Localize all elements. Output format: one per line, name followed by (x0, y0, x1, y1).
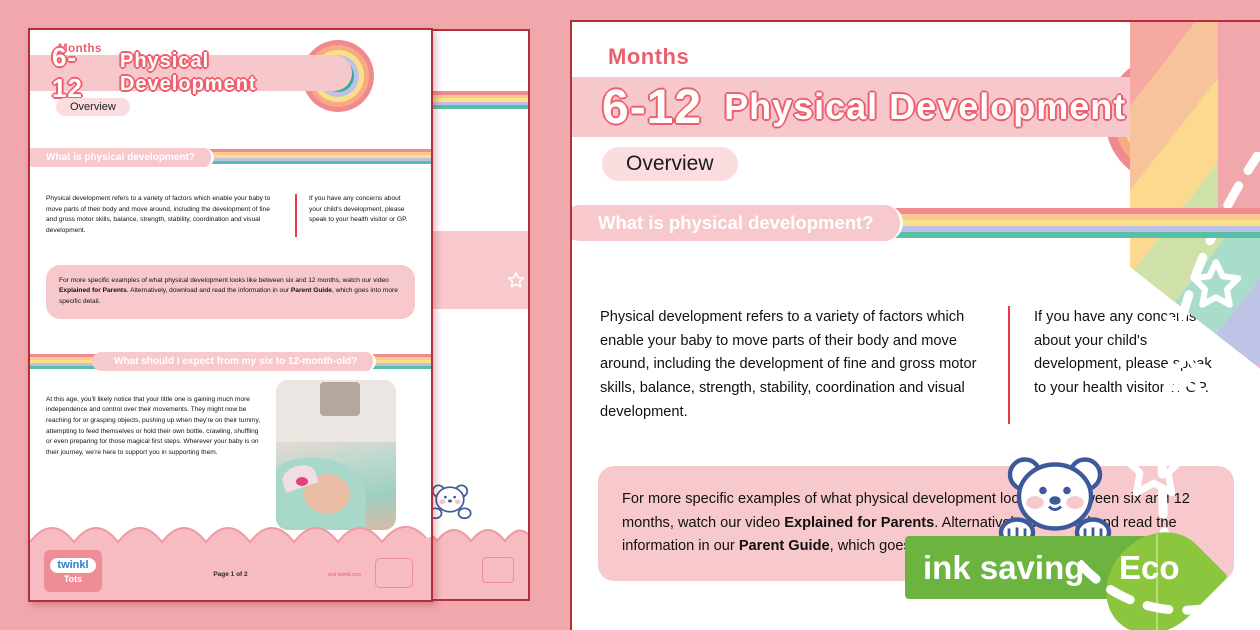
thumb-header: Months 6-12 Physical Development Overvie… (30, 30, 431, 142)
star-outline-icon (1190, 415, 1242, 472)
thumb-section-1-body: Physical development refers to a variety… (46, 194, 415, 237)
section-1-callout: For more specific examples of what physi… (46, 265, 415, 319)
age-range: 6-12 (602, 80, 702, 135)
overview-pill: Overview (56, 98, 130, 116)
section-2-paragraph: At this age, you'll likely notice that y… (46, 395, 264, 465)
section-1-title: What is physical development? (28, 148, 214, 167)
star-outline-icon (1163, 348, 1211, 401)
title-bar: 6-12 Physical Development (572, 77, 1187, 137)
star-outline-icon (507, 271, 525, 294)
screenshot-stage: ? enefit your baby's is an opportunity t… (0, 0, 1260, 630)
site-label: visit twinkl.com (328, 572, 361, 578)
overview-pill: Overview (602, 147, 738, 181)
title-bar: 6-12 Physical Development (30, 55, 352, 91)
section-1-aside: If you have any concerns about your chil… (295, 194, 415, 237)
thumb-section-1-heading: What is physical development? (30, 146, 431, 168)
bear-icon (427, 481, 473, 521)
page-title: Physical Development (120, 50, 352, 96)
section-1-body: Physical development refers to a variety… (600, 306, 1260, 424)
header: Months 6-12 Physical Development Overvie… (572, 22, 1260, 202)
thumb-section-2-heading: What should I expect from my six to 12-m… (30, 351, 431, 373)
twinkl-seal-icon (375, 558, 413, 588)
ink-saving-eco-badge: ink saving Eco (905, 536, 1215, 599)
eco-text-left: ink saving (923, 549, 1084, 587)
page-title: Physical Development (724, 86, 1126, 128)
page-number: Page 1 of 2 (30, 571, 431, 578)
section-1-paragraph: Physical development refers to a variety… (600, 306, 980, 424)
eco-text-right: Eco (1119, 549, 1180, 587)
section-2-title: What should I expect from my six to 12-m… (92, 352, 376, 371)
section-1-paragraph: Physical development refers to a variety… (46, 194, 281, 237)
section-1-title: What is physical development? (570, 205, 903, 241)
age-range: 6-12 (52, 42, 108, 104)
section-1-heading: What is physical development? (572, 202, 1260, 244)
months-label: Months (608, 44, 689, 70)
star-outline-icon (1118, 430, 1190, 507)
scalloped-footer: twinkl Tots Page 1 of 2 visit twinkl.com (30, 508, 431, 600)
document-thumbnail-page-1[interactable]: Months 6-12 Physical Development Overvie… (28, 28, 433, 602)
